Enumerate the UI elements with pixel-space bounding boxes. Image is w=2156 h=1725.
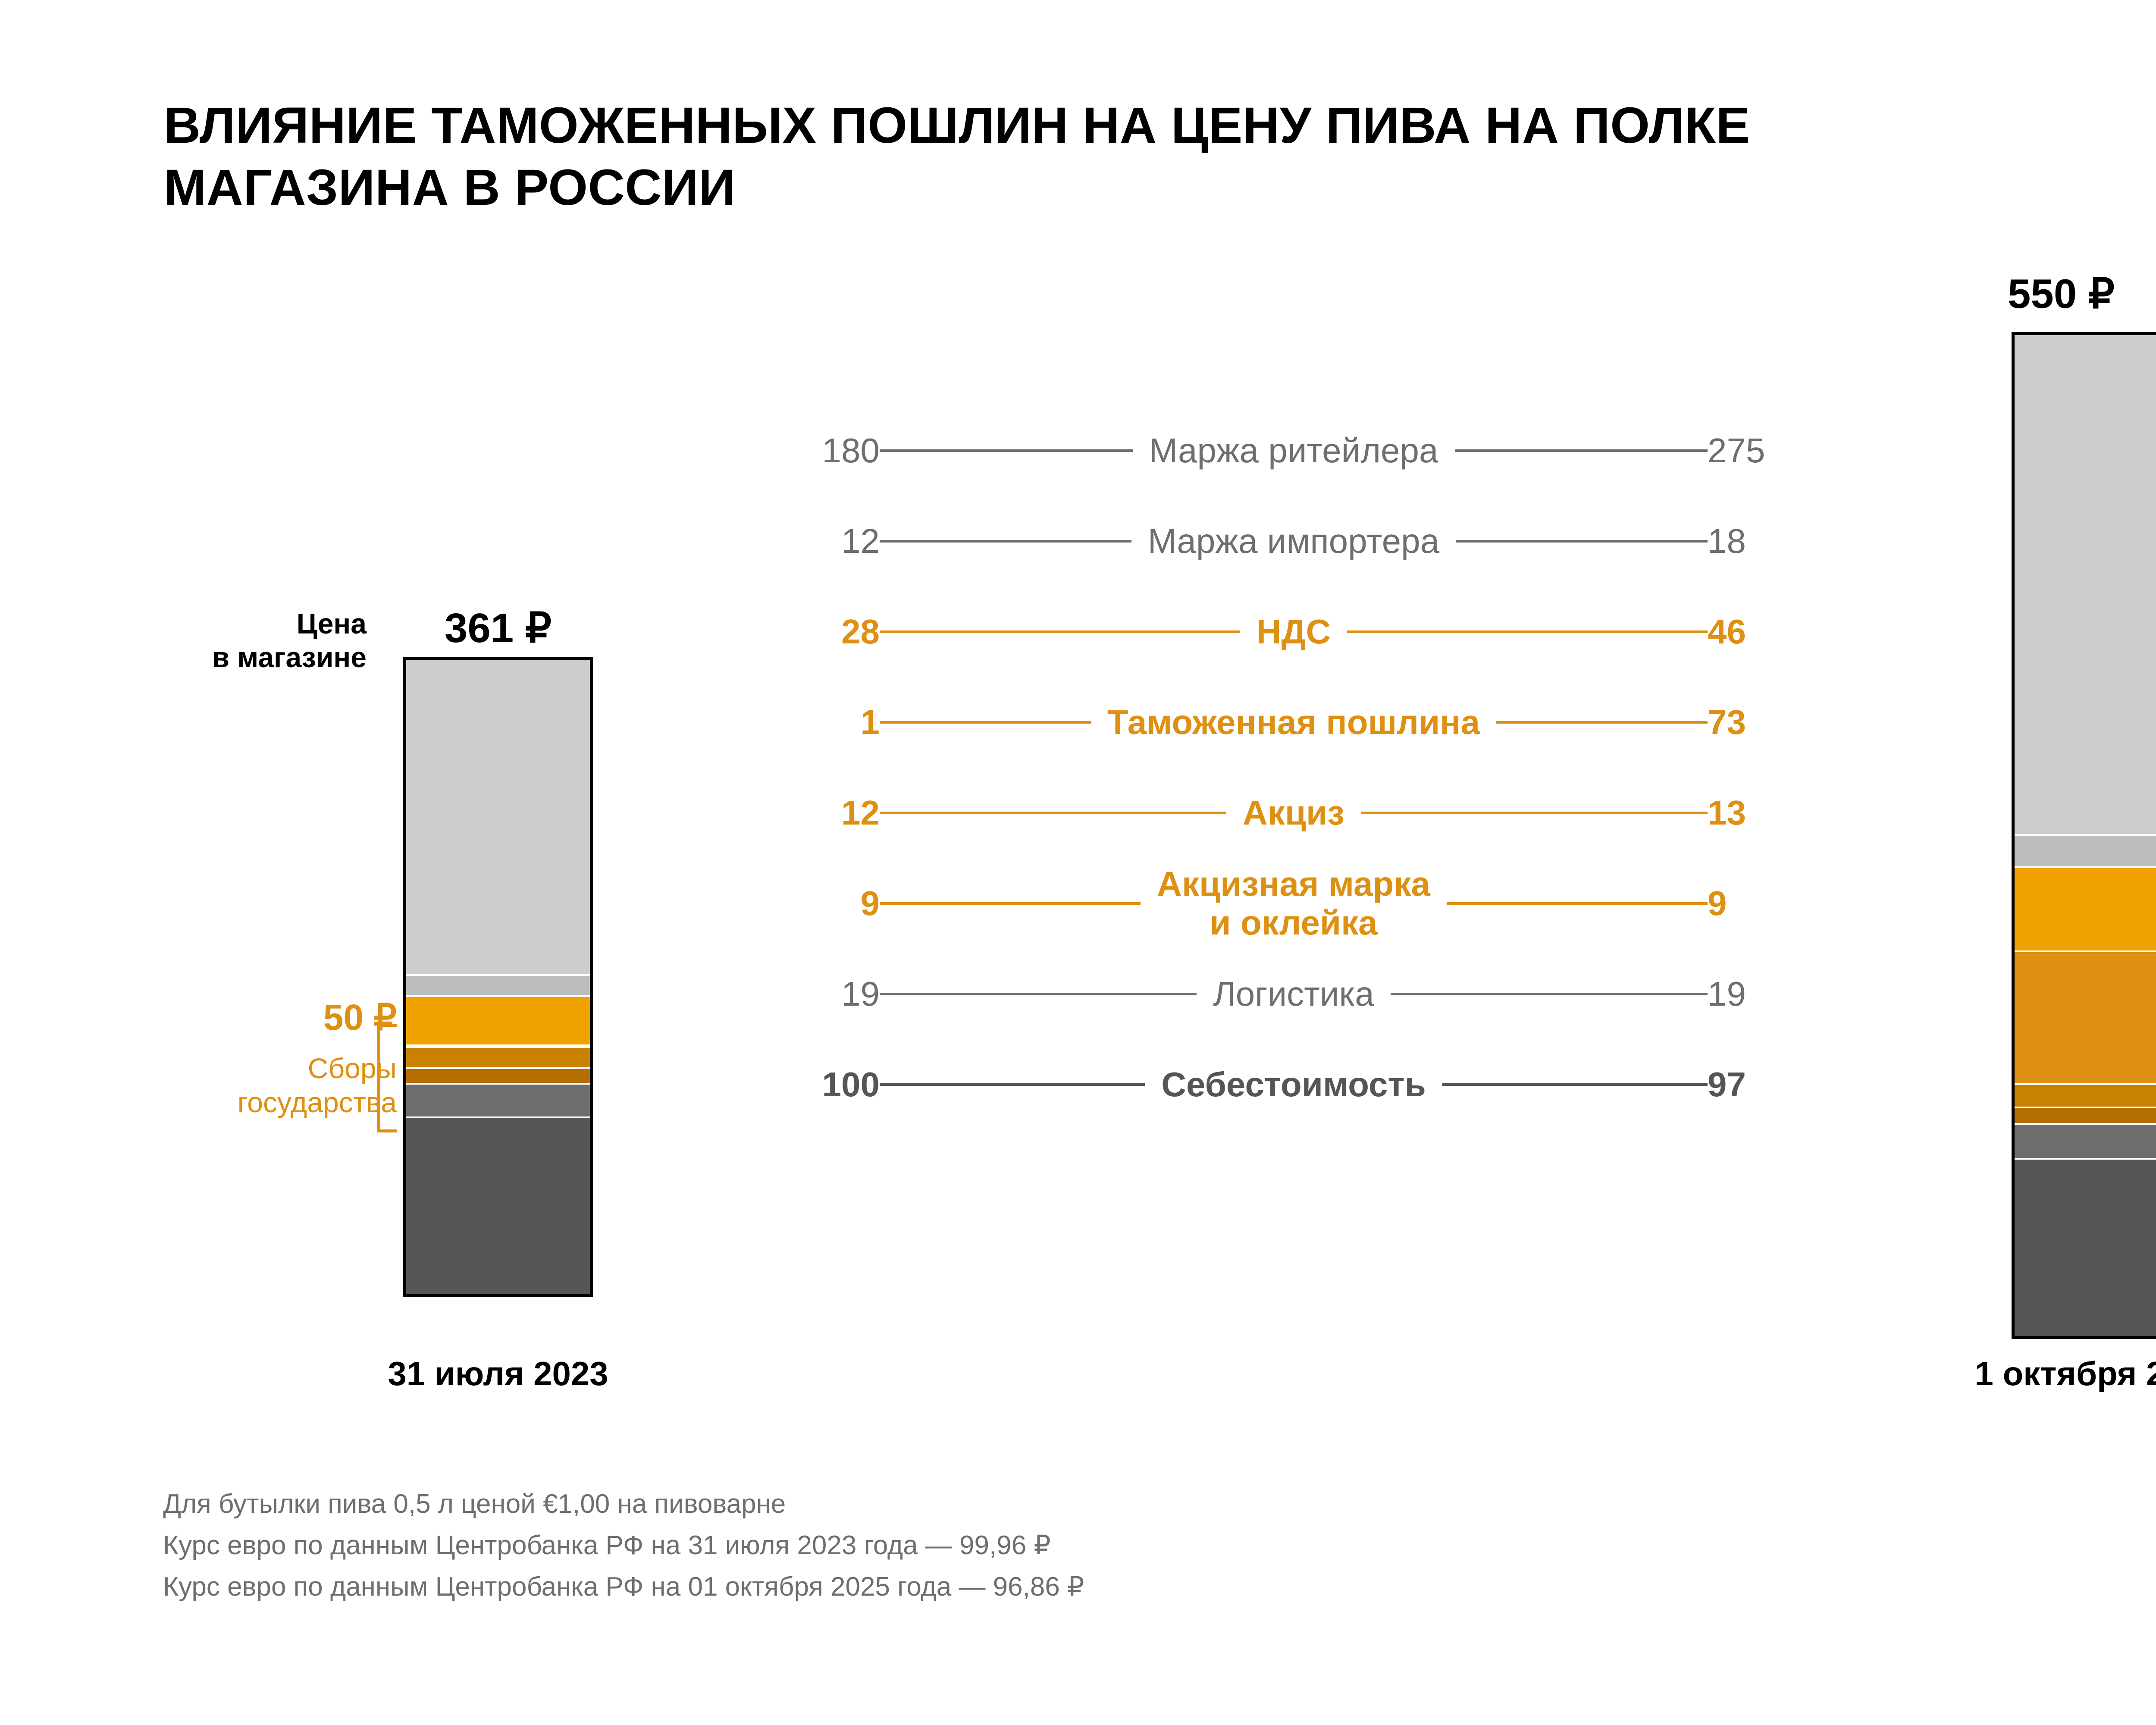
legend-value-2025: 97 xyxy=(1708,1065,1815,1104)
bar-segment xyxy=(406,997,590,1046)
legend-value-2025: 275 xyxy=(1708,431,1815,470)
legend-rule-left xyxy=(880,540,1131,543)
legend-rule-left xyxy=(880,993,1197,995)
right-bar-date: 1 октября 2025 xyxy=(1917,1354,2156,1393)
bar-2023 xyxy=(403,657,593,1297)
footnote-line: Для бутылки пива 0,5 л ценой €1,00 на пи… xyxy=(163,1483,1084,1525)
footnotes: Для бутылки пива 0,5 л ценой €1,00 на пи… xyxy=(163,1483,1084,1608)
bar-segment xyxy=(2015,836,2156,869)
legend-value-2025: 18 xyxy=(1708,521,1815,561)
legend-value-2025: 46 xyxy=(1708,612,1815,652)
legend-row: 19Логистика19 xyxy=(772,949,1815,1039)
legend-value-2023: 100 xyxy=(772,1065,880,1104)
legend-rule-left xyxy=(880,721,1091,724)
legend-row: 28НДС46 xyxy=(772,586,1815,677)
left-bar-date: 31 июля 2023 xyxy=(317,1354,679,1393)
legend-rule-left xyxy=(880,449,1133,452)
legend-rule-left xyxy=(880,902,1141,905)
footnote-line: Курс евро по данным Центробанка РФ на 31… xyxy=(163,1525,1084,1566)
legend-row: 12Маржа импортера18 xyxy=(772,496,1815,586)
bar-segment xyxy=(2015,1125,2156,1159)
legend-value-2025: 19 xyxy=(1708,974,1815,1014)
legend-rule-right xyxy=(1361,812,1708,814)
bar-segment xyxy=(2015,1160,2156,1336)
legend-row: 12Акциз13 xyxy=(772,768,1815,858)
bar-segment xyxy=(406,1118,590,1294)
legend-label: Акцизная марка и оклейка xyxy=(1141,865,1447,942)
legend-value-2025: 9 xyxy=(1708,884,1815,923)
bar-2025 xyxy=(2012,332,2156,1339)
legend-row: 1Таможенная пошлина73 xyxy=(772,677,1815,768)
legend-label: Акциз xyxy=(1226,793,1361,832)
legend-row: 180Маржа ритейлера275 xyxy=(772,405,1815,496)
legend: 180Маржа ритейлера27512Маржа импортера18… xyxy=(772,405,1815,1130)
legend-rule-right xyxy=(1455,449,1708,452)
legend-label: Себестоимость xyxy=(1145,1065,1442,1104)
legend-row: 9Акцизная марка и оклейка9 xyxy=(772,858,1815,949)
bar-segment xyxy=(2015,335,2156,836)
legend-label: Маржа ритейлера xyxy=(1133,431,1455,470)
legend-value-2023: 9 xyxy=(772,884,880,923)
bar-segment xyxy=(406,1048,590,1069)
legend-value-2023: 180 xyxy=(772,431,880,470)
left-shelf-price-label: Цена в магазине xyxy=(138,607,367,674)
bar-segment xyxy=(2015,1108,2156,1125)
legend-value-2023: 12 xyxy=(772,521,880,561)
legend-rule-right xyxy=(1391,993,1708,995)
legend-rule-left xyxy=(880,630,1240,633)
bar-segment xyxy=(406,1069,590,1085)
left-state-fee-amount: 50 ₽ xyxy=(121,996,397,1038)
legend-rule-right xyxy=(1456,540,1708,543)
left-bar-total: 361 ₽ xyxy=(403,604,593,652)
legend-value-2025: 13 xyxy=(1708,793,1815,833)
right-bar-total: 550 ₽ xyxy=(1975,270,2147,318)
legend-value-2023: 19 xyxy=(772,974,880,1014)
legend-label: Маржа импортера xyxy=(1131,522,1456,561)
footnote-line: Курс евро по данным Центробанка РФ на 01… xyxy=(163,1566,1084,1608)
legend-value-2023: 28 xyxy=(772,612,880,652)
legend-rule-left xyxy=(880,1083,1145,1086)
infographic-canvas: ВЛИЯНИЕ ТАМОЖЕННЫХ ПОШЛИН НА ЦЕНУ ПИВА Н… xyxy=(0,0,2156,1725)
legend-rule-left xyxy=(880,812,1226,814)
legend-label: Логистика xyxy=(1197,975,1390,1013)
left-state-fee-callout: 50 ₽ Сборы государства xyxy=(121,996,397,1120)
bar-segment xyxy=(2015,1085,2156,1109)
legend-rule-right xyxy=(1447,902,1708,905)
legend-value-2023: 1 xyxy=(772,703,880,742)
bar-segment xyxy=(2015,952,2156,1085)
bar-segment xyxy=(406,976,590,997)
page-title: ВЛИЯНИЕ ТАМОЖЕННЫХ ПОШЛИН НА ЦЕНУ ПИВА Н… xyxy=(164,95,2018,219)
legend-row: 100Себестоимость97 xyxy=(772,1039,1815,1130)
legend-value-2025: 73 xyxy=(1708,703,1815,742)
legend-label: Таможенная пошлина xyxy=(1091,703,1496,742)
legend-rule-right xyxy=(1442,1083,1708,1086)
legend-value-2023: 12 xyxy=(772,793,880,833)
left-state-fee-caption: Сборы государства xyxy=(121,1051,397,1120)
legend-rule-right xyxy=(1347,630,1708,633)
bar-segment xyxy=(2015,868,2156,952)
bar-segment xyxy=(406,660,590,976)
legend-label: НДС xyxy=(1240,612,1347,651)
bar-segment xyxy=(406,1085,590,1118)
legend-rule-right xyxy=(1496,721,1708,724)
